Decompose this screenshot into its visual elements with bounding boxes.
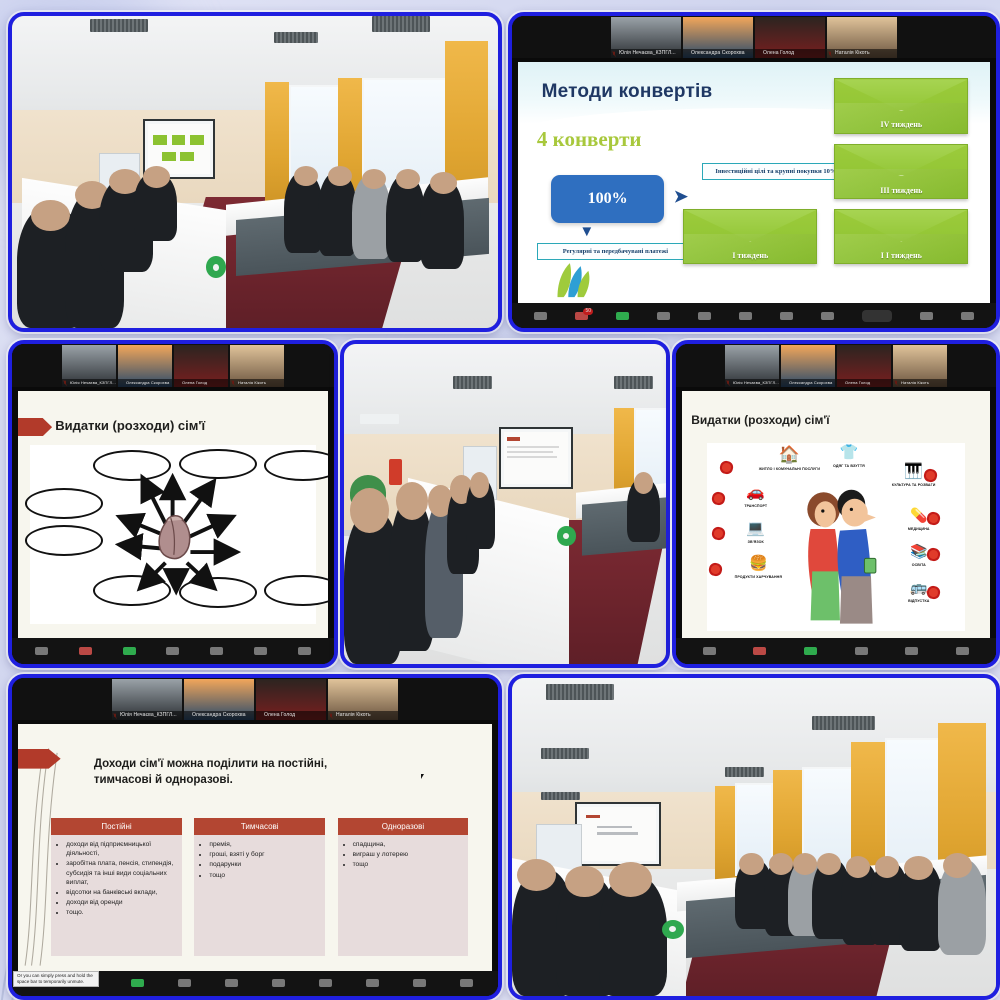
- zoom-toolbar[interactable]: [676, 638, 996, 664]
- list-item: подарунки: [209, 860, 321, 869]
- participant-thumb-2[interactable]: Олена Голод: [174, 345, 228, 387]
- envelope-week-3: III тиждень: [834, 144, 968, 199]
- view-icon[interactable]: [920, 312, 933, 320]
- cartoon-couple-icon: [784, 480, 893, 627]
- cartoon-illustration: 🏠 ЖИТЛО І КОМУНАЛЬНІ ПОСЛУГИ 🚗 ТРАНСПОРТ…: [707, 443, 966, 631]
- chevron-down-icon: ▼: [579, 223, 594, 240]
- chat-icon[interactable]: [225, 979, 238, 987]
- reactions-icon[interactable]: [780, 312, 793, 320]
- reactions-icon[interactable]: [254, 647, 267, 655]
- participant-thumb-2[interactable]: Олена Голод: [755, 17, 825, 58]
- participant-name: Наталія Кікоть: [230, 379, 284, 387]
- chat-icon[interactable]: [210, 647, 223, 655]
- unread-badge: 50: [583, 308, 593, 315]
- participant-thumb-0[interactable]: Юлія Нечаєва_КЗПГЛ...: [611, 17, 681, 58]
- slide-heading: Доходи сім'ї можна поділити на постійні,…: [94, 756, 464, 788]
- slide-heading-line2: тимчасові й одноразові.: [94, 772, 464, 788]
- participant-thumb-2[interactable]: Олена Голод: [256, 679, 326, 720]
- slide-title: Видатки (розходи) сім'ї: [55, 418, 205, 433]
- zoom-toolbar[interactable]: Or you can simply press and hold the spa…: [12, 971, 498, 996]
- participant-thumb-0[interactable]: Юлія Нечаєва_КЗПГЛ...: [725, 345, 779, 387]
- list-item: премія,: [209, 840, 321, 849]
- leave-icon[interactable]: [961, 312, 974, 320]
- participants-icon[interactable]: [657, 312, 670, 320]
- ceiling-lamp: [614, 376, 653, 389]
- percent-box: 100%: [551, 175, 664, 223]
- participant-thumb-0[interactable]: Юлія Нечаєва_КЗПГЛ...: [62, 345, 116, 387]
- list-item: виграш у лотерею: [353, 850, 465, 859]
- student-head: [904, 856, 933, 880]
- mouse-cursor-icon: [421, 774, 426, 779]
- classroom-photo: Учні за столами: [344, 344, 666, 664]
- participant-name: Юлія Нечаєва_КЗПГЛ...: [611, 49, 681, 58]
- video-icon[interactable]: [753, 647, 766, 655]
- projected-slide: [580, 807, 656, 861]
- list-item: тощо: [353, 860, 465, 869]
- participant-name: Олена Голод: [256, 711, 326, 720]
- table-column-temporary: Тимчасові премія, гроші, взяті у борг по…: [194, 818, 325, 956]
- table-column-onetime: Одноразові спадщина, виграш у лотерею то…: [338, 818, 469, 956]
- more-icon[interactable]: [298, 647, 311, 655]
- audio-icon[interactable]: [703, 647, 716, 655]
- column-body: спадщина, виграш у лотерею тощо: [338, 835, 469, 956]
- envelope-week-4: IV тиждень: [834, 78, 968, 133]
- apps-icon[interactable]: [366, 979, 379, 987]
- list-item: заробітна плата, пенсія, стипендія, субс…: [66, 859, 178, 887]
- participant-name: Олена Голод: [174, 379, 228, 387]
- expense-diagram: [30, 445, 315, 623]
- projector-screen: [499, 427, 574, 489]
- participant-name: Олена Голод: [755, 49, 825, 58]
- panel-photo-classroom-room[interactable]: Класна кімната з вікнами: [508, 674, 1000, 1000]
- slide-title: Видатки (розходи) сім'ї: [691, 413, 829, 427]
- chat-icon[interactable]: [698, 312, 711, 320]
- list-item: тощо: [209, 871, 321, 880]
- participant-thumb-1[interactable]: Олександра Скорохва: [118, 345, 172, 387]
- income-table: Постійні доходи від підприємницької діял…: [51, 818, 468, 956]
- shared-screen-stage: Видатки (розходи) сім'ї 🏠 ЖИТЛО І КОМУНА…: [676, 387, 996, 639]
- participant-thumb-0[interactable]: Юлія Нечаєва_КЗПГЛ...: [112, 679, 182, 720]
- participant-name: Олена Голод: [837, 379, 891, 387]
- participant-thumb-3[interactable]: Наталія Кікоть: [328, 679, 398, 720]
- participant-name: Олександра Скорохва: [184, 711, 254, 720]
- photo-collage: Класна кімната, учні дивляться на екран …: [0, 0, 1000, 1000]
- student-head: [470, 472, 489, 498]
- envelope-label: III тиждень: [835, 186, 967, 195]
- participant-thumb-3[interactable]: Наталія Кікоть: [230, 345, 284, 387]
- student-head: [350, 488, 389, 533]
- share-screen-icon[interactable]: [131, 979, 144, 987]
- icon-label: ВІДПУСТКА: [890, 596, 947, 606]
- ceiling-lamp: [541, 792, 580, 800]
- projected-slide: [504, 432, 569, 484]
- unmute-tooltip: Or you can simply press and hold the spa…: [13, 971, 99, 987]
- envelope-week-2: I I тиждень: [834, 209, 968, 264]
- record-icon[interactable]: [272, 979, 285, 987]
- participant-name: Олександра Скорохва: [683, 49, 753, 58]
- zoom-window: Юлія Нечаєва_КЗПГЛ... Олександра Скорохв…: [512, 16, 996, 328]
- more-icon[interactable]: [862, 310, 892, 322]
- classroom-photo: Класна кімната, учні дивляться на екран: [12, 16, 498, 328]
- slide-expenses-diagram: Видатки (розходи) сім'ї: [18, 391, 328, 639]
- ceiling-lamp: [541, 748, 589, 759]
- list-item: гроші, взяті у борг: [209, 850, 321, 859]
- ceiling-lamp: [360, 414, 399, 424]
- panel-slide-income-table[interactable]: Юлія Нечаєва_КЗПГЛ... Олександра Скорохв…: [8, 674, 502, 1000]
- money-bag-icon: [144, 509, 207, 563]
- envelope-label: I I тиждень: [835, 251, 967, 260]
- green-object: [557, 526, 576, 545]
- panel-slide-expenses-diagram[interactable]: Юлія Нечаєва_КЗПГЛ... Олександра Скорохв…: [8, 340, 338, 668]
- envelope-label: IV тиждень: [835, 120, 967, 129]
- envelope-week-1: I тиждень: [683, 209, 817, 264]
- slide-income-table: Доходи сім'ї можна поділити на постійні,…: [18, 724, 492, 970]
- participant-name: Олександра Скорохва: [781, 379, 835, 387]
- participant-filmstrip: Юлія Нечаєва_КЗПГЛ... Олександра Скорохв…: [12, 678, 498, 720]
- slide-envelopes: Методи конвертів 4 конверти 100% ➤ ▼ Інв…: [518, 62, 990, 304]
- participant-thumb-1[interactable]: Олександра Скорохва: [184, 679, 254, 720]
- student-head: [430, 172, 457, 194]
- student-head: [943, 853, 972, 878]
- audio-icon[interactable]: [35, 647, 48, 655]
- icon-label: ТРАНСПОРТ: [722, 501, 789, 511]
- panel-slide-expenses-cartoon[interactable]: Юлія Нечаєва_КЗПГЛ... Олександра Скорохв…: [672, 340, 1000, 668]
- more-icon[interactable]: [413, 979, 426, 987]
- panel-photo-classroom-students[interactable]: Учні за столами: [340, 340, 670, 668]
- participant-thumb-1[interactable]: Олександра Скорохва: [683, 17, 753, 58]
- zoom-window: Юлія Нечаєва_КЗПГЛ... Олександра Скорохв…: [12, 678, 498, 996]
- zoom-toolbar[interactable]: [12, 638, 334, 664]
- participant-name: Юлія Нечаєва_КЗПГЛ...: [112, 711, 182, 720]
- video-icon[interactable]: [79, 647, 92, 655]
- reactions-icon[interactable]: [319, 979, 332, 987]
- student-head: [294, 166, 318, 186]
- slide-heading-line1: Доходи сім'ї можна поділити на постійні,: [94, 756, 464, 772]
- slide-subtitle: 4 конверти: [537, 127, 642, 152]
- participant-filmstrip: Юлія Нечаєва_КЗПГЛ... Олександра Скорохв…: [676, 344, 996, 387]
- leaf-logo-icon: [532, 260, 617, 299]
- participant-thumb-3[interactable]: Наталія Кікоть: [827, 17, 897, 58]
- student-head: [817, 853, 841, 875]
- participant-name: Юлія Нечаєва_КЗПГЛ...: [725, 379, 779, 387]
- column-body: премія, гроші, взяті у борг подарунки то…: [194, 835, 325, 956]
- student-head: [769, 853, 793, 875]
- participant-thumb-2[interactable]: Олена Голод: [837, 345, 891, 387]
- column-body: доходи від підприємницької діяльності, з…: [51, 835, 182, 956]
- list-item: спадщина,: [353, 840, 465, 849]
- student-head: [328, 166, 352, 186]
- student-head: [143, 166, 170, 188]
- panel-slide-envelopes[interactable]: Юлія Нечаєва_КЗПГЛ... Олександра Скорохв…: [508, 12, 1000, 332]
- participants-icon[interactable]: [166, 647, 179, 655]
- slide-title: Методи конвертів: [542, 81, 713, 103]
- column-header: Постійні: [51, 818, 182, 835]
- participant-name: Юлія Нечаєва_КЗПГЛ...: [62, 379, 116, 387]
- leave-icon[interactable]: [460, 979, 473, 987]
- green-object: [206, 256, 225, 278]
- zoom-toolbar[interactable]: 50: [512, 303, 996, 328]
- list-item: доходи від оренди: [66, 898, 178, 907]
- participant-name: Наталія Кікоть: [893, 379, 947, 387]
- participant-filmstrip: Юлія Нечаєва_КЗПГЛ... Олександра Скорохв…: [512, 16, 996, 58]
- projector-screen: [575, 802, 661, 866]
- student-head: [565, 866, 604, 898]
- student-head: [793, 853, 817, 875]
- column-header: Одноразові: [338, 818, 469, 835]
- participant-name: Наталія Кікоть: [328, 711, 398, 720]
- panel-photo-classroom-wide[interactable]: Класна кімната, учні дивляться на екран: [8, 12, 502, 332]
- list-item: тощо.: [66, 908, 178, 917]
- participants-icon[interactable]: [178, 979, 191, 987]
- icon-medicine: 💊 МЕДИЦИНА: [888, 510, 950, 534]
- student-head: [517, 859, 556, 891]
- participant-thumb-3[interactable]: Наталія Кікоть: [893, 345, 947, 387]
- curtain: [265, 82, 289, 207]
- zoom-window: Юлія Нечаєва_КЗПГЛ... Олександра Скорохв…: [12, 344, 334, 664]
- student-head: [396, 482, 428, 520]
- participants-icon[interactable]: [855, 647, 868, 655]
- share-screen-icon[interactable]: [123, 647, 136, 655]
- record-icon[interactable]: [739, 312, 752, 320]
- list-item: доходи від підприємницької діяльності,: [66, 840, 178, 858]
- shared-screen-stage: Методи конвертів 4 конверти 100% ➤ ▼ Інв…: [512, 58, 996, 304]
- box-investments: Інвестиційні цілі та крупні покупки 10%: [702, 163, 850, 180]
- chevron-right-icon: ➤: [674, 187, 688, 207]
- student-head: [739, 853, 763, 875]
- participant-thumb-1[interactable]: Олександра Скорохва: [781, 345, 835, 387]
- table-column-permanent: Постійні доходи від підприємницької діял…: [51, 818, 182, 956]
- icon-label: МЕДИЦИНА: [888, 524, 950, 534]
- chat-icon[interactable]: [905, 647, 918, 655]
- ceiling-lamp: [372, 16, 430, 32]
- more-icon[interactable]: [956, 647, 969, 655]
- shared-screen-stage: Доходи сім'ї можна поділити на постійні,…: [12, 720, 498, 970]
- green-object: [662, 920, 684, 939]
- video-icon[interactable]: 50: [575, 312, 588, 320]
- share-screen-icon[interactable]: [804, 647, 817, 655]
- audio-icon[interactable]: [534, 312, 547, 320]
- list-item: відсотки на банківські вклади,: [66, 888, 178, 897]
- participant-name: Олександра Скорохва: [118, 379, 172, 387]
- share-screen-icon[interactable]: [616, 312, 629, 320]
- zoom-window: Юлія Нечаєва_КЗПГЛ... Олександра Скорохв…: [676, 344, 996, 664]
- ceiling-lamp: [453, 376, 492, 389]
- icon-transport: 🚗 ТРАНСПОРТ: [722, 488, 789, 511]
- box-regular-payments: Регулярні та передбачувані платежі: [537, 243, 694, 260]
- icon-label: ЗВ'ЯЗОК: [722, 537, 789, 547]
- icon-communication: 💻 ЗВ'ЯЗОК: [722, 524, 789, 547]
- shared-screen-stage: Видатки (розходи) сім'ї: [12, 387, 334, 639]
- participant-name: Наталія Кікоть: [827, 49, 897, 58]
- participant-filmstrip: Юлія Нечаєва_КЗПГЛ... Олександра Скорохв…: [12, 344, 334, 387]
- classroom-photo: Класна кімната з вікнами: [512, 678, 996, 996]
- apps-icon[interactable]: [821, 312, 834, 320]
- icon-label: ОСВІТА: [890, 560, 947, 570]
- fire-extinguisher: [389, 459, 402, 485]
- column-header: Тимчасові: [194, 818, 325, 835]
- slide-expenses-cartoon: Видатки (розходи) сім'ї 🏠 ЖИТЛО І КОМУНА…: [682, 391, 990, 639]
- ceiling-lamp: [812, 716, 875, 730]
- envelope-label: I тиждень: [684, 251, 816, 260]
- title-marker: [18, 418, 52, 437]
- ceiling-lamp: [725, 767, 764, 777]
